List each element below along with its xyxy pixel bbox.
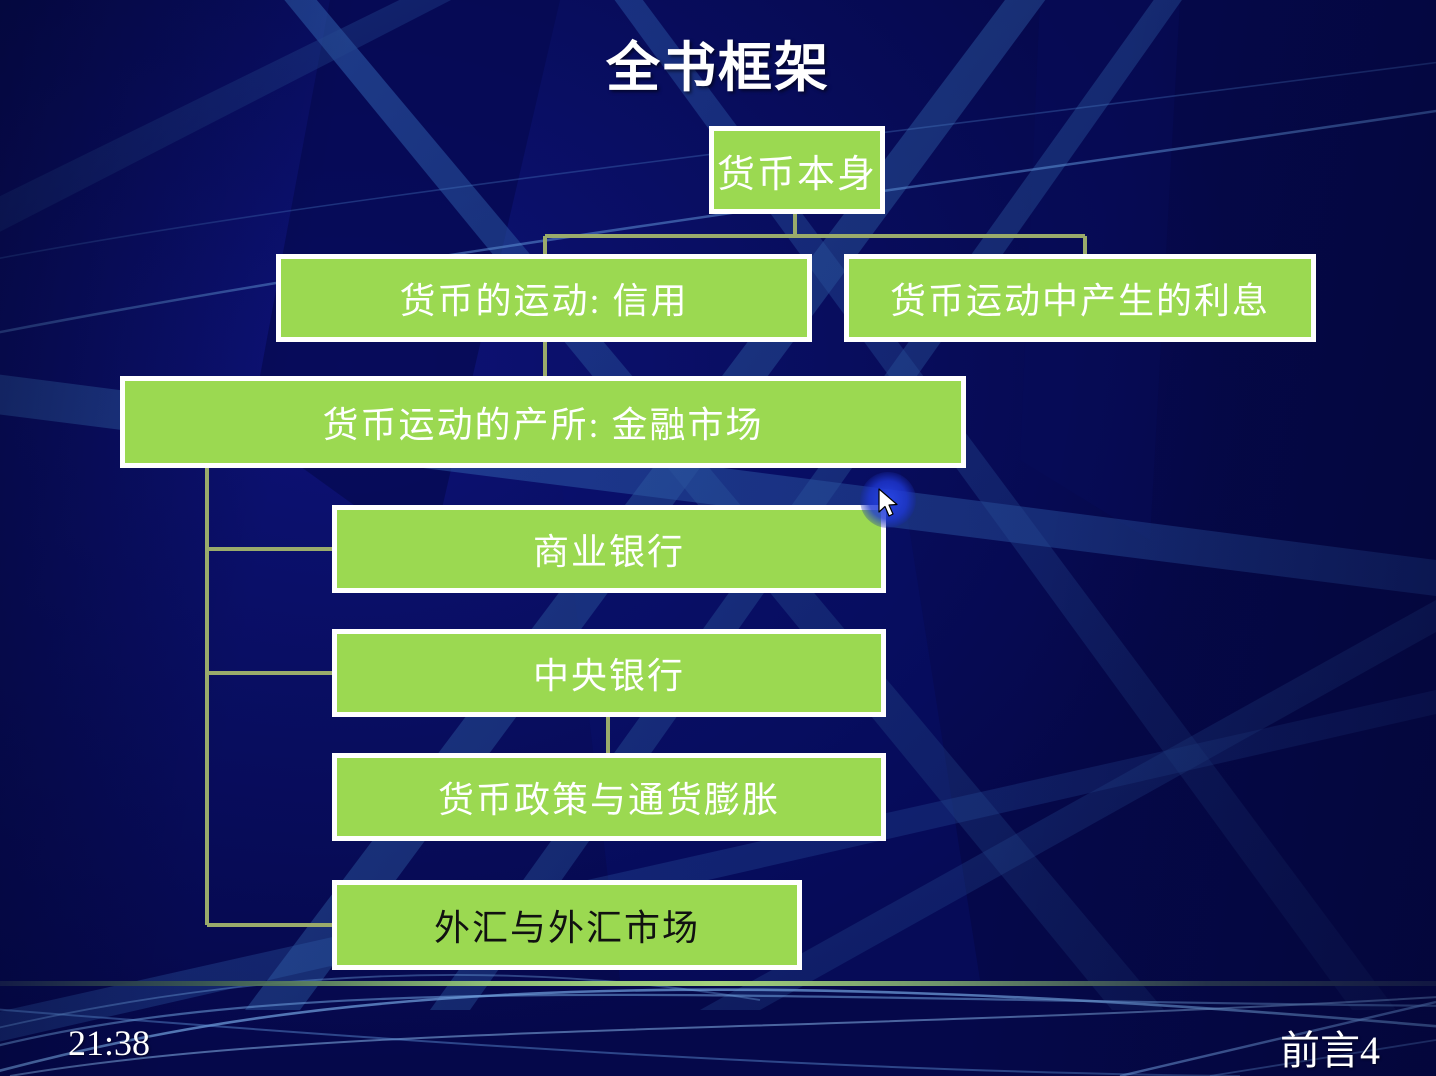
node-monetary-policy-inflation[interactable]: 货币政策与通货膨胀 [332, 753, 886, 841]
mouse-pointer-icon [878, 488, 900, 520]
node-central-bank[interactable]: 中央银行 [332, 629, 886, 717]
footer-page-label: 前言4 [1280, 1018, 1380, 1076]
node-currency-movement-credit[interactable]: 货币的运动: 信用 [276, 254, 812, 342]
node-commercial-bank[interactable]: 商业银行 [332, 505, 886, 593]
node-interest-from-movement[interactable]: 货币运动中产生的利息 [844, 254, 1316, 342]
node-forex-market[interactable]: 外汇与外汇市场 [332, 880, 802, 970]
node-currency-itself[interactable]: 货币本身 [709, 126, 885, 214]
page-title: 全书框架 [0, 38, 1436, 97]
footer-divider [0, 981, 1436, 986]
node-financial-market[interactable]: 货币运动的产所: 金融市场 [120, 376, 966, 468]
footer-time: 21:38 [68, 1022, 150, 1064]
presentation-slide: 全书框架 货币本身 货币的运动: 信用 货币运动中产生的利息 货 [0, 0, 1436, 1076]
